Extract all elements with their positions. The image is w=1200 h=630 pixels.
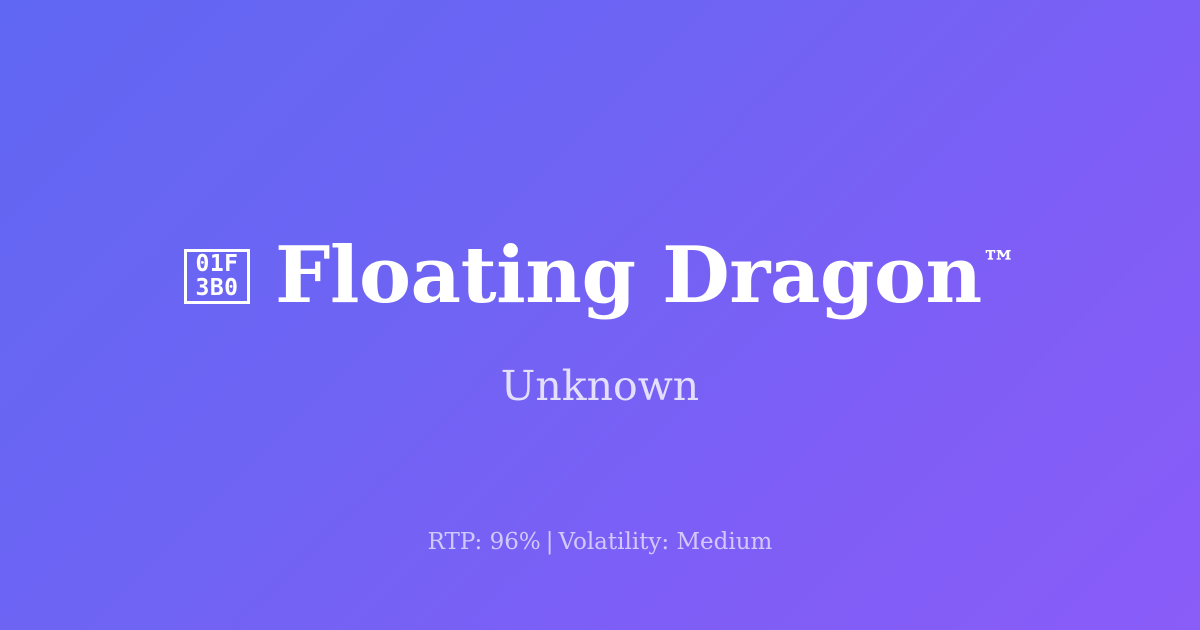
meta-separator: | [541,529,559,555]
trademark-symbol: ™ [982,244,1016,284]
game-provider: Unknown [0,362,1200,411]
game-meta: RTP: 96%|Volatility: Medium [0,528,1200,557]
game-og-card: 01F 3B0 Floating Dragon™ Unknown RTP: 96… [0,0,1200,630]
slot-machine-emoji-icon: 01F 3B0 [184,249,250,304]
rtp-value: RTP: 96% [428,529,541,555]
title-row: 01F 3B0 Floating Dragon™ [0,222,1200,330]
tofu-codepoint-bottom: 3B0 [195,276,238,300]
page-title: Floating Dragon™ [275,235,1016,317]
game-title-text: Floating Dragon [275,230,982,321]
tofu-codepoint-top: 01F [195,252,238,276]
volatility-value: Volatility: Medium [558,529,772,555]
